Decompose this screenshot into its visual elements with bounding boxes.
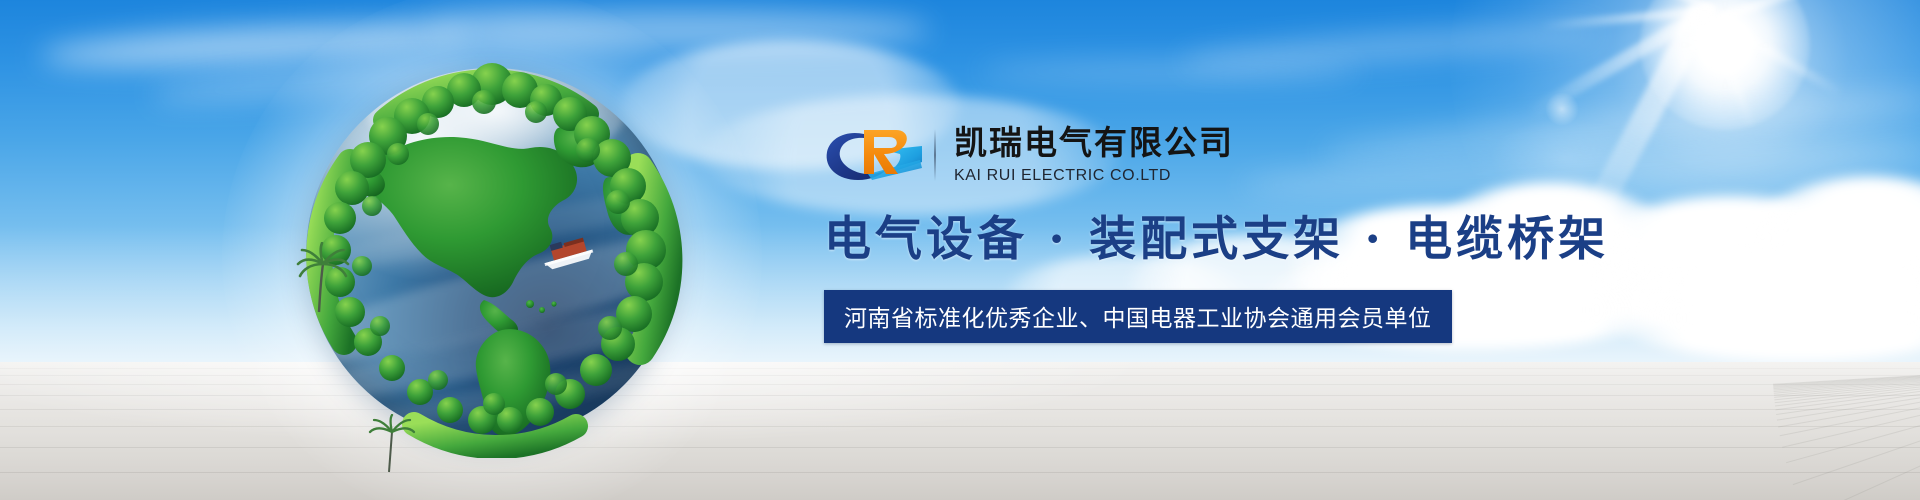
tile-line-horizontal [0, 472, 1920, 473]
tree-canopies [321, 63, 666, 434]
page-title: 电气设备 · 装配式支架 · 电缆桥架 [824, 214, 1584, 266]
brand-text: 凯瑞电气有限公司 KAI RUI ELECTRIC CO.LTD [954, 125, 1234, 185]
banner-content: 凯瑞电气有限公司 KAI RUI ELECTRIC CO.LTD 电气设备 · … [824, 118, 1584, 343]
hero-banner: 凯瑞电气有限公司 KAI RUI ELECTRIC CO.LTD 电气设备 · … [0, 0, 1920, 500]
status-badge: 河南省标准化优秀企业、中国电器工业协会通用会员单位 [824, 290, 1452, 343]
brand-lockup[interactable]: 凯瑞电气有限公司 KAI RUI ELECTRIC CO.LTD [824, 118, 1584, 192]
grass-collar [414, 424, 576, 447]
eco-globe [282, 46, 702, 466]
company-name-en: KAI RUI ELECTRIC CO.LTD [954, 167, 1234, 185]
logo-divider [934, 129, 936, 181]
palm-tree-icon [296, 242, 352, 314]
cirrus-cloud [980, 60, 1360, 82]
cr-monogram-logo-icon[interactable] [824, 124, 928, 186]
palm-tree-icon [368, 414, 416, 474]
company-name-cn: 凯瑞电气有限公司 [954, 125, 1234, 162]
